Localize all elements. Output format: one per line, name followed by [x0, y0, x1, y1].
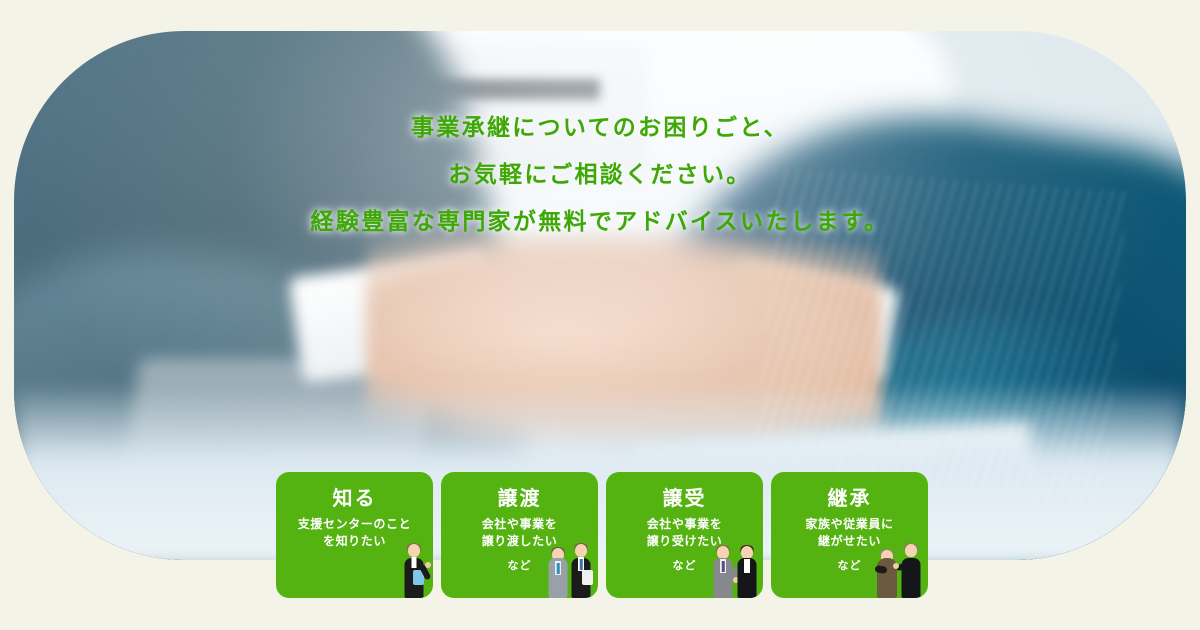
- headline-line-3: 経験豊富な専門家が無料でアドバイスいたします。: [0, 198, 1200, 245]
- card-title: 継承: [771, 482, 928, 511]
- two-people-receive-icon: [712, 542, 757, 598]
- card-title: 譲渡: [441, 482, 598, 511]
- category-card-jouju[interactable]: 譲受 会社や事業を 譲り受けたい など: [606, 472, 763, 598]
- card-line-1: 家族や従業員に: [771, 516, 928, 533]
- two-people-succession-icon: [876, 542, 922, 598]
- card-line-1: 会社や事業を: [441, 516, 598, 533]
- category-card-list: 知る 支援センターのこと を知りたい 譲渡 会社や事業を 譲り渡したい など: [276, 472, 924, 598]
- card-title: 知る: [276, 482, 433, 511]
- card-title: 譲受: [606, 482, 763, 511]
- headline-line-1: 事業承継についてのお困りごと、: [0, 104, 1200, 151]
- category-card-shiru[interactable]: 知る 支援センターのこと を知りたい: [276, 472, 433, 598]
- woman-with-clipboard-icon: [401, 542, 427, 598]
- category-card-joto[interactable]: 譲渡 会社や事業を 譲り渡したい など: [441, 472, 598, 598]
- card-line-1: 会社や事業を: [606, 516, 763, 533]
- hero-headline: 事業承継についてのお困りごと、 お気軽にご相談ください。 経験豊富な専門家が無料…: [0, 104, 1200, 245]
- two-people-handover-icon: [548, 542, 592, 598]
- category-card-keisho[interactable]: 継承 家族や従業員に 継がせたい など: [771, 472, 928, 598]
- headline-line-2: お気軽にご相談ください。: [0, 151, 1200, 198]
- card-line-1: 支援センターのこと: [276, 516, 433, 533]
